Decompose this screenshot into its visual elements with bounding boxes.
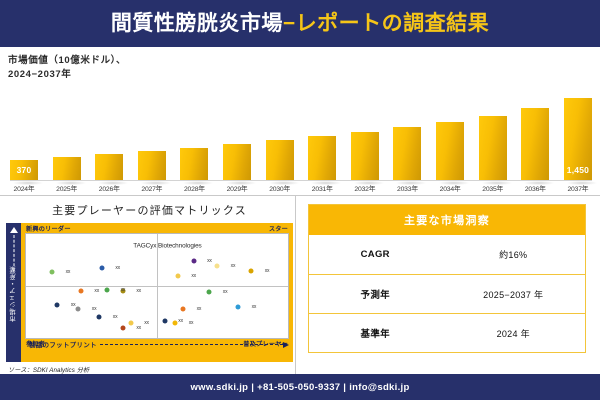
- page-title: 間質性膀胱炎市場−レポートの調査結果: [111, 13, 489, 34]
- bar: [479, 116, 507, 181]
- x-axis-label: 2024年: [10, 183, 38, 193]
- bar: [180, 148, 208, 181]
- x-axis-label: 2027年: [138, 183, 166, 193]
- matrix-data-point-label: xx: [189, 320, 194, 326]
- bar: [95, 154, 123, 181]
- market-value-chart: 市場価値（10億米ドル）、 2024−2037年 3701,450 2024年2…: [0, 47, 600, 195]
- matrix-data-point-label: xx: [113, 314, 118, 320]
- matrix-data-point-label: xx: [144, 320, 149, 326]
- matrix-horizontal-divider: [26, 286, 288, 287]
- matrix-data-point: [236, 304, 241, 309]
- matrix-data-point-label: xx: [191, 273, 196, 279]
- bar: [266, 140, 294, 181]
- chart-title: 市場価値（10億米ドル）、 2024−2037年: [8, 54, 592, 82]
- matrix-data-point-label: xx: [197, 306, 202, 312]
- infographic-page: 間質性膀胱炎市場−レポートの調査結果 市場価値（10億米ドル）、 2024−20…: [0, 0, 600, 400]
- matrix-data-point-label: xx: [252, 304, 257, 310]
- x-axis-label: 2032年: [351, 183, 379, 193]
- quadrant-label-stars: スター: [269, 224, 288, 233]
- matrix-data-point-label: xx: [92, 306, 97, 312]
- matrix-data-point-label: xx: [136, 288, 141, 294]
- bar-column: [223, 93, 251, 181]
- key-insight-row: 基準年2024 年: [309, 313, 585, 352]
- matrix-data-point: [99, 266, 104, 271]
- matrix-data-point-label: xx: [94, 288, 99, 294]
- key-insights-header: 主要な市場洞察: [309, 205, 585, 235]
- key-insight-label: CAGR: [309, 249, 441, 260]
- chart-plot-area: 3701,450: [10, 93, 592, 181]
- bar-column: [138, 93, 166, 181]
- bar: [393, 127, 421, 181]
- matrix-data-point: [162, 319, 167, 324]
- bar: [138, 151, 166, 181]
- matrix-data-point: [50, 270, 55, 275]
- bar-column: 1,450: [564, 93, 592, 181]
- lower-section: 主要プレーヤーの評価マトリックス 市場シェア・産業 新興のリーダー スター 参加…: [0, 195, 600, 374]
- quadrant-label-emerging-leaders: 新興のリーダー: [26, 224, 71, 233]
- key-insight-row: 予測年2025−2037 年: [309, 274, 585, 313]
- matrix-title: 主要プレーヤーの評価マトリックス: [6, 200, 293, 223]
- bar-column: [53, 93, 81, 181]
- bar-column: [180, 93, 208, 181]
- matrix-data-point: [181, 306, 186, 311]
- x-axis-label: 2026年: [95, 183, 123, 193]
- matrix-data-point: [105, 288, 110, 293]
- matrix-x-dashed-line: [100, 344, 283, 345]
- matrix-data-point-label: xx: [66, 269, 71, 275]
- matrix-y-axis-label: 市場シェア・産業: [9, 264, 18, 322]
- bar-column: [351, 93, 379, 181]
- bar-column: [436, 93, 464, 181]
- bar: [521, 108, 549, 181]
- key-insight-value: 2025−2037 年: [441, 288, 585, 301]
- bar: [308, 136, 336, 181]
- matrix-data-point: [215, 264, 220, 269]
- page-footer: www.sdki.jp | +81-505-050-9337 | info@sd…: [0, 374, 600, 400]
- matrix-scatter-plot: TAGCyx Biotechnologies xxxxxxxxxxxxxxxxx…: [25, 233, 289, 339]
- matrix-data-point: [249, 269, 254, 274]
- x-axis-label: 2031年: [308, 183, 336, 193]
- matrix-x-axis: 製品のフットプリント: [25, 339, 289, 350]
- matrix-data-point-label: xx: [207, 258, 212, 264]
- matrix-data-point-label: xx: [136, 325, 141, 331]
- chart-axis-line: [10, 180, 592, 181]
- matrix-data-point: [120, 325, 125, 330]
- page-header: 間質性膀胱炎市場−レポートの調査結果: [0, 0, 600, 47]
- matrix-data-point: [175, 273, 180, 278]
- bar-column: [521, 93, 549, 181]
- matrix-data-point: [128, 321, 133, 326]
- key-insights-card: 主要な市場洞察 CAGR約16%予測年2025−2037 年基準年2024 年: [308, 204, 586, 353]
- bar: [223, 144, 251, 181]
- matrix-data-point: [55, 302, 60, 307]
- bar-column: [393, 93, 421, 181]
- matrix-highlighted-company-label: TAGCyx Biotechnologies: [133, 243, 201, 250]
- bar: [351, 132, 379, 181]
- x-axis-label: 2036年: [521, 183, 549, 193]
- x-axis-label: 2037年: [564, 183, 592, 193]
- matrix-data-point-label: xx: [231, 263, 236, 269]
- bar-column: [95, 93, 123, 181]
- x-axis-label: 2035年: [479, 183, 507, 193]
- matrix-data-point-label: xx: [121, 287, 126, 293]
- matrix-data-point: [173, 321, 178, 326]
- page-title-main: 間質性膀胱炎市場: [111, 12, 283, 35]
- matrix-data-point: [79, 289, 84, 294]
- matrix-y-axis: 市場シェア・産業: [6, 223, 21, 362]
- matrix-body: 新興のリーダー スター 参加者 普及プレーヤー TAGCyx Biotechno…: [21, 223, 293, 362]
- arrow-right-icon: [283, 342, 289, 348]
- x-axis-label: 2025年: [53, 183, 81, 193]
- matrix-data-point: [76, 306, 81, 311]
- bar: [53, 157, 81, 181]
- x-axis-label: 2030年: [266, 183, 294, 193]
- bar-value-label: 1,450: [564, 165, 592, 175]
- matrix-data-point: [97, 315, 102, 320]
- source-note: ソース：SDKI Analytics 分析: [6, 362, 293, 374]
- bar: 1,450: [564, 98, 592, 181]
- matrix-wrapper: 市場シェア・産業 新興のリーダー スター 参加者 普及プレーヤー TAGCyx …: [6, 223, 293, 362]
- bar-column: [308, 93, 336, 181]
- chart-x-axis-labels: 2024年2025年2026年2027年2028年2029年2030年2031年…: [10, 183, 592, 193]
- x-axis-label: 2029年: [223, 183, 251, 193]
- matrix-data-point-label: xx: [223, 289, 228, 295]
- matrix-data-point-label: xx: [115, 265, 120, 271]
- bar-column: [479, 93, 507, 181]
- key-insight-value: 約16%: [441, 248, 585, 261]
- key-insights-panel: 主要な市場洞察 CAGR約16%予測年2025−2037 年基準年2024 年: [296, 196, 596, 374]
- key-insight-label: 基準年: [309, 326, 441, 340]
- competitive-matrix-panel: 主要プレーヤーの評価マトリックス 市場シェア・産業 新興のリーダー スター 参加…: [4, 196, 296, 374]
- key-insight-value: 2024 年: [441, 327, 585, 340]
- matrix-data-point-label: xx: [178, 318, 183, 324]
- footer-contact-text: www.sdki.jp | +81-505-050-9337 | info@sd…: [190, 382, 409, 393]
- matrix-x-axis-label: 製品のフットプリント: [25, 340, 97, 349]
- chart-title-line1: 市場価値（10億米ドル）、: [8, 54, 592, 68]
- x-axis-label: 2033年: [393, 183, 421, 193]
- bar: [436, 122, 464, 181]
- chart-title-line2: 2024−2037年: [8, 68, 592, 82]
- matrix-data-point-label: xx: [265, 268, 270, 274]
- page-title-accent: −レポートの調査結果: [283, 12, 489, 35]
- matrix-data-point: [207, 290, 212, 295]
- matrix-data-point: [191, 259, 196, 264]
- key-insights-rows: CAGR約16%予測年2025−2037 年基準年2024 年: [309, 235, 585, 352]
- matrix-data-point-label: xx: [71, 302, 76, 308]
- key-insight-row: CAGR約16%: [309, 235, 585, 274]
- bar: 370: [10, 160, 38, 181]
- key-insight-label: 予測年: [309, 287, 441, 301]
- x-axis-label: 2028年: [180, 183, 208, 193]
- bar-value-label: 370: [10, 165, 38, 175]
- arrow-up-icon: [10, 227, 18, 233]
- bar-column: 370: [10, 93, 38, 181]
- bar-column: [266, 93, 294, 181]
- x-axis-label: 2034年: [436, 183, 464, 193]
